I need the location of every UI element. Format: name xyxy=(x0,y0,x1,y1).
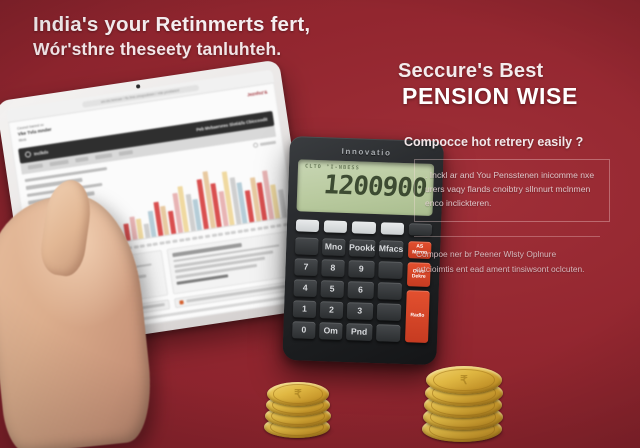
percent-key[interactable] xyxy=(324,220,348,233)
chart-x-label xyxy=(270,225,275,228)
divider xyxy=(414,236,600,237)
calc-key-blank-0[interactable] xyxy=(295,237,319,255)
chart-x-label xyxy=(263,226,268,229)
calc-key-8[interactable]: 8 xyxy=(321,259,345,277)
chart-x-label xyxy=(179,238,184,241)
right-text-column: Seccure's Best PENSION WISE Compocce hot… xyxy=(398,60,634,276)
headline-line-1: India's your Retinmerts fert, xyxy=(33,14,393,36)
star-icon xyxy=(179,300,184,305)
coin-top: ₹ xyxy=(426,366,502,394)
nav-item-2[interactable] xyxy=(49,160,68,167)
calc-key-1[interactable]: 1 xyxy=(293,300,317,318)
calc-key-om[interactable]: Om xyxy=(319,322,343,340)
chart-x-label xyxy=(237,230,242,233)
chart-x-label xyxy=(153,242,158,245)
chart-x-label xyxy=(133,245,138,248)
right-footer-paragraph: Compoe ner br Peener Wlsty Oplnure ertci… xyxy=(416,247,596,276)
calc-key-3[interactable]: 3 xyxy=(347,302,373,320)
chart-x-label xyxy=(159,241,164,244)
chart-x-label xyxy=(166,240,171,243)
calc-key-6[interactable]: 6 xyxy=(347,281,373,299)
headline-block: India's your Retinmerts fert, Wór'sthre … xyxy=(33,14,393,59)
panel-label: Inclkds xyxy=(34,149,49,156)
calc-key-9[interactable]: 9 xyxy=(348,260,374,278)
chart-x-label xyxy=(218,233,223,236)
rupee-symbol-icon: ₹ xyxy=(267,382,329,406)
right-question: Compocce hot retrery easily ? xyxy=(404,135,634,150)
calc-key-pookk[interactable]: Pookk xyxy=(349,239,375,257)
nav-item-4[interactable] xyxy=(95,153,112,159)
calc-key-0[interactable]: 0 xyxy=(292,321,316,339)
chart-x-label xyxy=(198,236,203,239)
brand-right: Jeznfoz'& xyxy=(247,89,268,98)
brand-left: Ceonct bannd vv Vke Tvla mnder tlbnk xyxy=(17,122,53,144)
chart-x-label xyxy=(172,239,177,242)
chart-x-label xyxy=(244,229,249,232)
chart-x-label xyxy=(146,243,151,246)
right-footer-paragraph-wrap: Compoe ner br Peener Wlsty Oplnure ertci… xyxy=(416,247,596,276)
side-key-3[interactable]: Radlo xyxy=(405,290,430,343)
chart-x-label xyxy=(192,237,197,240)
calc-key-blank-11[interactable] xyxy=(377,282,402,300)
right-highlight-box: . Inckl ar and You Pensstenen inicomme n… xyxy=(414,159,610,222)
headline-line-2: Wór'sthre theseety tanluhteh. xyxy=(33,39,393,59)
nav-item-1[interactable] xyxy=(28,164,43,170)
clock-icon xyxy=(25,151,32,158)
nav-item-5[interactable] xyxy=(119,150,133,156)
calc-key-blank-19[interactable] xyxy=(376,324,401,342)
right-box-paragraph: . Inckl ar and You Pensstenen inicomme n… xyxy=(425,169,601,211)
calc-key-mno[interactable]: Mno xyxy=(322,238,346,256)
right-subtitle: Seccure's Best xyxy=(398,60,634,82)
calc-key-blank-15[interactable] xyxy=(376,303,401,321)
chart-x-label xyxy=(140,244,145,247)
sqrt-key[interactable] xyxy=(352,221,376,234)
calc-key-2[interactable]: 2 xyxy=(320,301,344,319)
rupee-symbol-icon: ₹ xyxy=(426,366,502,394)
brand-left-sub: tlbnk xyxy=(19,138,27,143)
calc-key-5[interactable]: 5 xyxy=(320,280,344,298)
calc-key-pnd[interactable]: Pnd xyxy=(346,323,372,341)
coin-stack-left: ₹ xyxy=(262,372,336,442)
chart-x-label xyxy=(231,231,236,234)
advertisement-banner: India's your Retinmerts fert, Wór'sthre … xyxy=(0,0,640,448)
nav-item-3[interactable] xyxy=(75,157,88,163)
calc-key-4[interactable]: 4 xyxy=(294,279,318,297)
memory-key[interactable] xyxy=(296,219,320,232)
chart-x-label xyxy=(257,227,262,230)
camera-icon xyxy=(136,84,141,89)
chart-x-label xyxy=(211,234,216,237)
chart-x-label xyxy=(276,224,281,227)
chart-x-label xyxy=(224,232,229,235)
chart-x-label xyxy=(205,235,210,238)
coin-stack-right: ₹ xyxy=(420,362,512,444)
calculator-keypad: MnoPookkMfacs7894561230OmPnd xyxy=(292,237,403,342)
nav-left-group: Inclkds xyxy=(25,149,49,158)
coin-top: ₹ xyxy=(267,382,329,406)
chart-x-label xyxy=(250,228,255,231)
calc-key-7[interactable]: 7 xyxy=(294,258,318,276)
chart-bar xyxy=(136,218,144,238)
chart-x-label xyxy=(185,237,190,240)
right-title: PENSION WISE xyxy=(402,84,634,109)
